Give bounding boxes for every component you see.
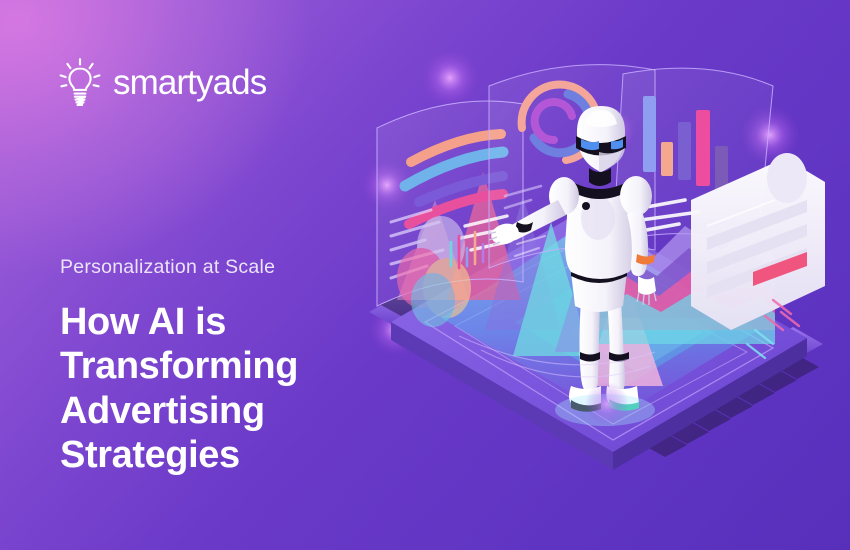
headline-line-1: How AI is (60, 300, 400, 344)
headline-line-4: Strategies (60, 433, 400, 477)
logo-wordmark: smartyads (113, 65, 266, 100)
eyebrow-text: Personalization at Scale (60, 256, 275, 279)
ai-robot-analytics-illustration (355, 0, 850, 550)
headline-line-3: Advertising (60, 389, 400, 433)
page-title: How AI is Transforming Advertising Strat… (60, 300, 400, 478)
promo-banner: smartyads Personalization at Scale How A… (0, 0, 850, 550)
lightbulb-icon (58, 56, 102, 108)
brand-logo[interactable]: smartyads (58, 56, 266, 108)
headline-line-2: Transforming (60, 344, 400, 388)
